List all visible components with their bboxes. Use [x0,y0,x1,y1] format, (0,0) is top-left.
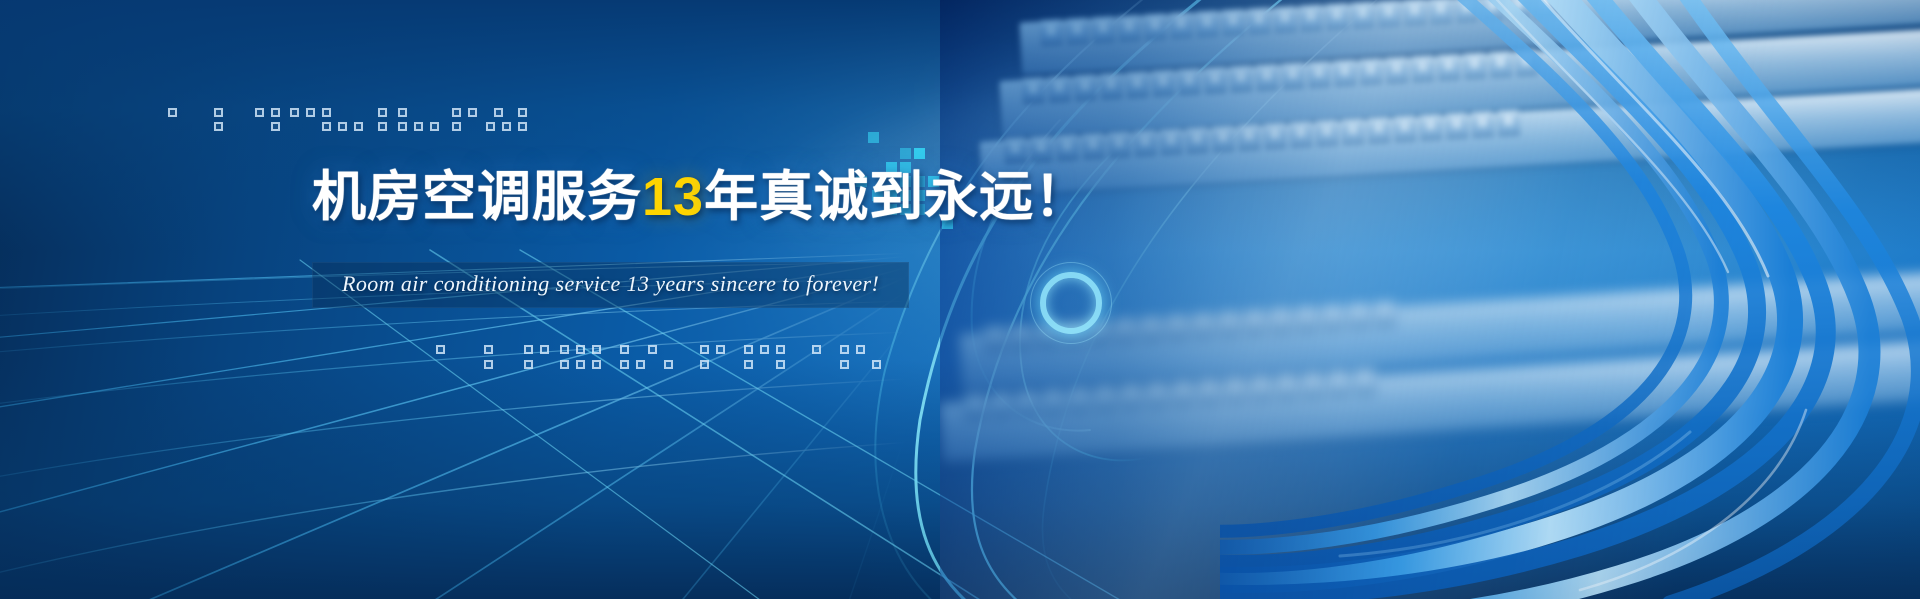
vignette-overlay [0,0,1920,599]
promo-banner: 机房空调服务13年真诚到永远！ Room air conditioning se… [0,0,1920,599]
